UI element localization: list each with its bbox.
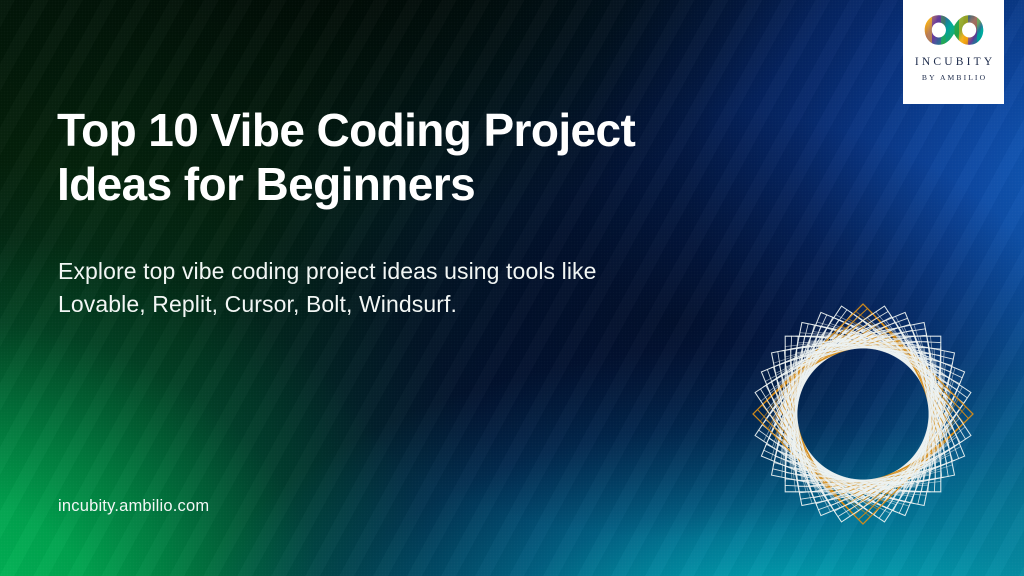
logo-tagline: BY AMBILIO — [920, 74, 987, 82]
geometric-star-spiral-graphic — [703, 252, 1023, 576]
infinity-logo-icon — [923, 13, 985, 47]
banner-canvas: INCUBITY BY AMBILIO Top 10 Vibe Coding P… — [0, 0, 1024, 576]
page-title-line-1: Top 10 Vibe Coding Project — [57, 104, 717, 158]
logo-wordmark: INCUBITY — [912, 57, 996, 69]
page-title-line-2: Ideas for Beginners — [57, 158, 717, 212]
page-title: Top 10 Vibe Coding Project Ideas for Beg… — [57, 104, 717, 212]
page-subtitle-line-2: Lovable, Replit, Cursor, Bolt, Windsurf. — [58, 288, 678, 321]
site-url-label: incubity.ambilio.com — [58, 497, 209, 516]
page-subtitle-line-1: Explore top vibe coding project ideas us… — [58, 255, 678, 288]
page-subtitle: Explore top vibe coding project ideas us… — [58, 255, 678, 320]
logo-badge[interactable]: INCUBITY BY AMBILIO — [903, 0, 1004, 104]
